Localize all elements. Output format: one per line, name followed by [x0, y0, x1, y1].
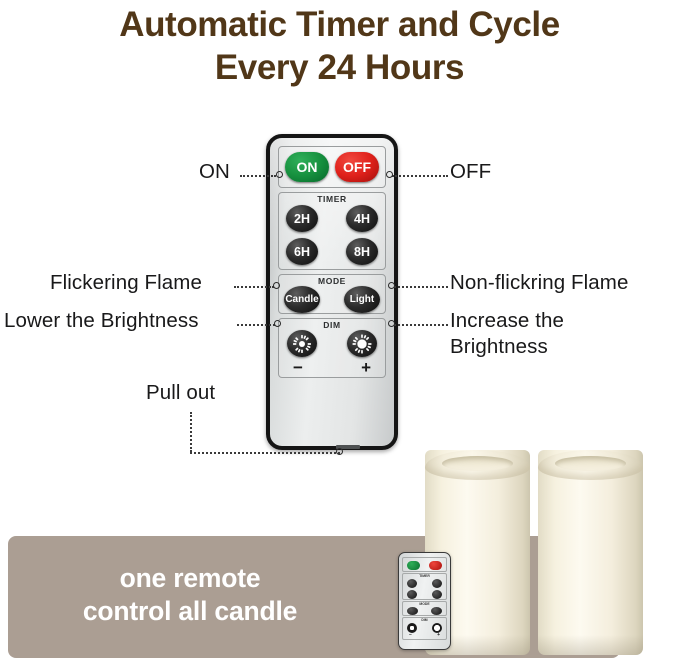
callout-non-flickering-flame-label: Non-flickring Flame	[450, 270, 628, 295]
off-button[interactable]: OFF	[335, 152, 379, 182]
candle-base-shadow	[538, 635, 643, 655]
mini-timer-button	[432, 590, 442, 599]
candle-wax-well	[555, 456, 626, 471]
leader-line-lower-brightness	[237, 324, 275, 326]
leader-line-increase-brightness	[394, 324, 448, 326]
page-title: Automatic Timer and Cycle Every 24 Hours	[0, 0, 679, 89]
anchor-light-mode	[388, 282, 395, 289]
dim-group-label: DIM	[279, 320, 385, 330]
dim-button-group: DIM	[278, 318, 386, 378]
dim-down-button[interactable]	[287, 330, 317, 357]
banner-line-2: control all candle	[0, 595, 380, 628]
mini-mode-button	[407, 607, 418, 615]
mini-timer-button	[432, 579, 442, 588]
timer-4h-button[interactable]: 4H	[346, 205, 378, 232]
mode-button-group: MODE Candle Light	[278, 274, 386, 314]
callout-on-label: ON	[199, 159, 230, 184]
mini-on-button	[407, 561, 420, 570]
mode-group-label: MODE	[279, 276, 385, 286]
mini-plus-sign: +	[437, 633, 440, 638]
timer-2h-button[interactable]: 2H	[286, 205, 318, 232]
dim-sign-row: − +	[279, 361, 385, 375]
title-line-1: Automatic Timer and Cycle	[119, 5, 560, 44]
on-button[interactable]: ON	[285, 152, 329, 182]
anchor-dim-down	[274, 320, 281, 327]
mini-power-group	[402, 557, 447, 572]
candle-right	[538, 450, 643, 655]
callout-pull-out-label: Pull out	[146, 380, 215, 405]
anchor-candle-mode	[273, 282, 280, 289]
anchor-off	[386, 171, 393, 178]
timer-8h-button[interactable]: 8H	[346, 238, 378, 265]
mode-light-button[interactable]: Light	[344, 286, 380, 313]
dim-minus-sign: −	[293, 361, 303, 375]
mini-timer-button	[407, 590, 417, 599]
leader-line-pull-out-horizontal	[190, 452, 340, 454]
anchor-on	[276, 171, 283, 178]
mini-timer-label: TIMER	[403, 574, 446, 578]
mini-mode-label: MODE	[403, 602, 446, 606]
leader-line-non-flickering-flame	[394, 286, 448, 288]
timer-group-label: TIMER	[279, 194, 385, 204]
mini-off-button	[429, 561, 442, 570]
mini-minus-sign: −	[409, 633, 412, 638]
mode-candle-button[interactable]: Candle	[284, 286, 320, 313]
power-button-group: ON OFF	[278, 146, 386, 188]
mini-timer-group: TIMER	[402, 573, 447, 600]
sun-bright-icon	[352, 334, 372, 354]
mini-timer-button	[407, 579, 417, 588]
leader-line-on	[240, 175, 276, 177]
callout-lower-brightness-label: Lower the Brightness	[4, 308, 199, 333]
mini-dim-label: DIM	[403, 618, 446, 622]
banner-line-1: one remote	[120, 563, 261, 593]
mini-mode-button	[431, 607, 442, 615]
candle-wax-well	[442, 456, 513, 471]
dim-up-button[interactable]	[347, 330, 377, 357]
mini-mode-group: MODE	[402, 601, 447, 616]
remote-control[interactable]: ON OFF TIMER 2H 4H 6H 8H MODE Candle Lig…	[266, 134, 398, 450]
dim-plus-sign: +	[361, 361, 371, 375]
product-infographic: Automatic Timer and Cycle Every 24 Hours…	[0, 0, 679, 664]
mini-remote: TIMER MODE DIM − +	[398, 552, 451, 650]
sun-dim-icon	[292, 334, 312, 354]
leader-line-flickering-flame	[234, 286, 274, 288]
timer-button-group: TIMER 2H 4H 6H 8H	[278, 192, 386, 270]
leader-line-pull-out-vertical	[190, 412, 192, 452]
anchor-pull-out	[336, 448, 343, 455]
callout-flickering-flame-label: Flickering Flame	[50, 270, 202, 295]
anchor-dim-up	[388, 320, 395, 327]
callout-off-label: OFF	[450, 159, 491, 184]
callout-increase-brightness-label: Increase the Brightness	[450, 308, 640, 360]
title-line-2: Every 24 Hours	[0, 46, 679, 89]
timer-6h-button[interactable]: 6H	[286, 238, 318, 265]
banner-caption: one remote control all candle	[0, 562, 380, 628]
leader-line-off	[392, 175, 448, 177]
mini-dim-group: DIM − +	[402, 617, 447, 640]
